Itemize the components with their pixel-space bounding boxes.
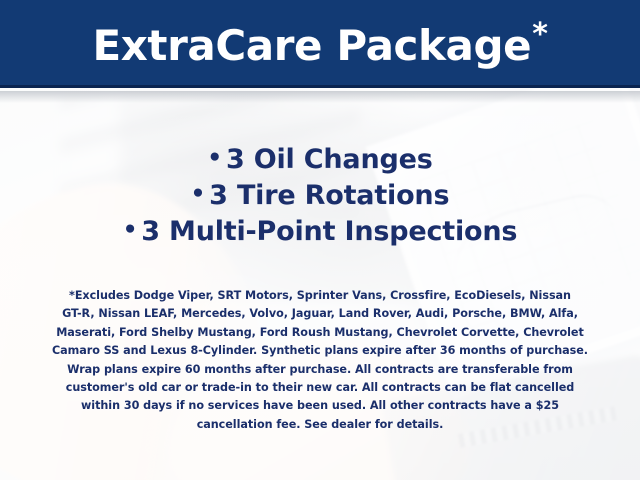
list-item: •3 Tire Rotations bbox=[0, 177, 640, 213]
banner-drop-shadow bbox=[0, 91, 640, 103]
feature-label: 3 Oil Changes bbox=[226, 144, 433, 175]
disclaimer-line: Maserati, Ford Shelby Mustang, Ford Rous… bbox=[28, 324, 612, 342]
list-item: •3 Oil Changes bbox=[0, 141, 640, 177]
feature-list: •3 Oil Changes •3 Tire Rotations •3 Mult… bbox=[0, 141, 640, 249]
disclaimer-line: *Excludes Dodge Viper, SRT Motors, Sprin… bbox=[28, 287, 612, 305]
disclaimer-line: Wrap plans expire 60 months after purcha… bbox=[28, 361, 612, 379]
disclaimer-line: cancellation fee. See dealer for details… bbox=[28, 416, 612, 434]
list-item: •3 Multi-Point Inspections bbox=[0, 213, 640, 249]
bullet-dot-icon: • bbox=[191, 181, 206, 207]
bullet-dot-icon: • bbox=[207, 145, 222, 171]
disclaimer-text: *Excludes Dodge Viper, SRT Motors, Sprin… bbox=[28, 287, 612, 434]
header-banner: ExtraCare Package* bbox=[0, 0, 640, 88]
title-asterisk: * bbox=[532, 17, 547, 52]
disclaimer-line: Camaro SS and Lexus 8-Cylinder. Syntheti… bbox=[28, 342, 612, 360]
feature-label: 3 Tire Rotations bbox=[209, 180, 449, 211]
disclaimer-line: customer's old car or trade-in to their … bbox=[28, 379, 612, 397]
extracare-package-promo-card: ExtraCare Package* •3 Oil Changes •3 Tir… bbox=[0, 0, 640, 480]
disclaimer-line: GT-R, Nissan LEAF, Mercedes, Volvo, Jagu… bbox=[28, 305, 612, 323]
page-title-text: ExtraCare Package bbox=[92, 21, 531, 70]
bullet-dot-icon: • bbox=[123, 217, 138, 243]
disclaimer-line: within 30 days if no services have been … bbox=[28, 397, 612, 415]
feature-label: 3 Multi-Point Inspections bbox=[141, 216, 517, 247]
page-title: ExtraCare Package* bbox=[92, 20, 547, 67]
